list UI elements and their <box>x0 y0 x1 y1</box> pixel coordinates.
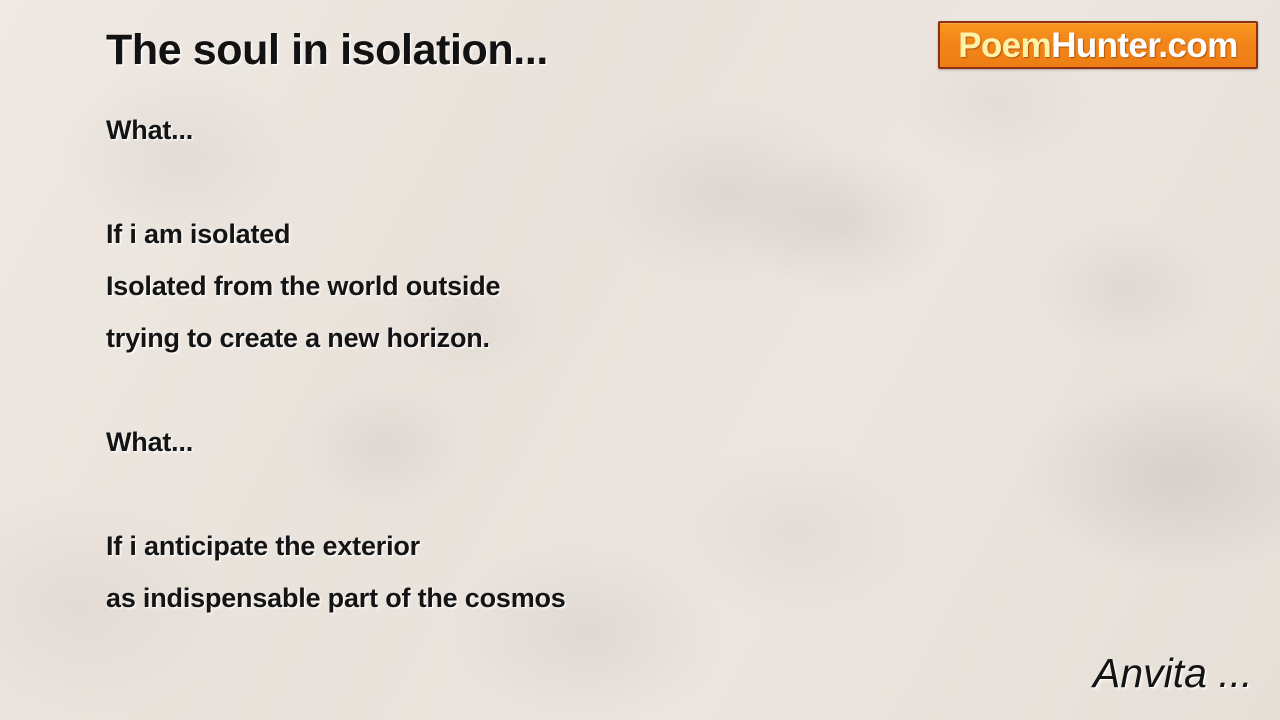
logo-wordmark: PoemHunter.com <box>958 28 1237 63</box>
poem-line: If i am isolated <box>106 212 866 264</box>
poem-line: as indispensable part of the cosmos <box>106 576 866 628</box>
poem-line: What... <box>106 420 866 472</box>
author-name: Anvita ... <box>1093 650 1253 697</box>
poem-text: What... If i am isolated Isolated from t… <box>106 108 866 628</box>
poem-line-blank <box>106 472 866 524</box>
poem-line-blank <box>106 368 866 420</box>
poem-line: What... <box>106 108 866 160</box>
page-title: The soul in isolation... <box>106 26 548 75</box>
poem-line-blank <box>106 160 866 212</box>
poem-line: If i anticipate the exterior <box>106 524 866 576</box>
poem-line: trying to create a new horizon. <box>106 316 866 368</box>
logo-text-hunter: Hunter.com <box>1051 26 1238 65</box>
poem-line: Isolated from the world outside <box>106 264 866 316</box>
logo-text-poem: Poem <box>958 26 1051 65</box>
poem-card: The soul in isolation... PoemHunter.com … <box>0 0 1280 720</box>
poemhunter-logo[interactable]: PoemHunter.com <box>938 21 1258 69</box>
